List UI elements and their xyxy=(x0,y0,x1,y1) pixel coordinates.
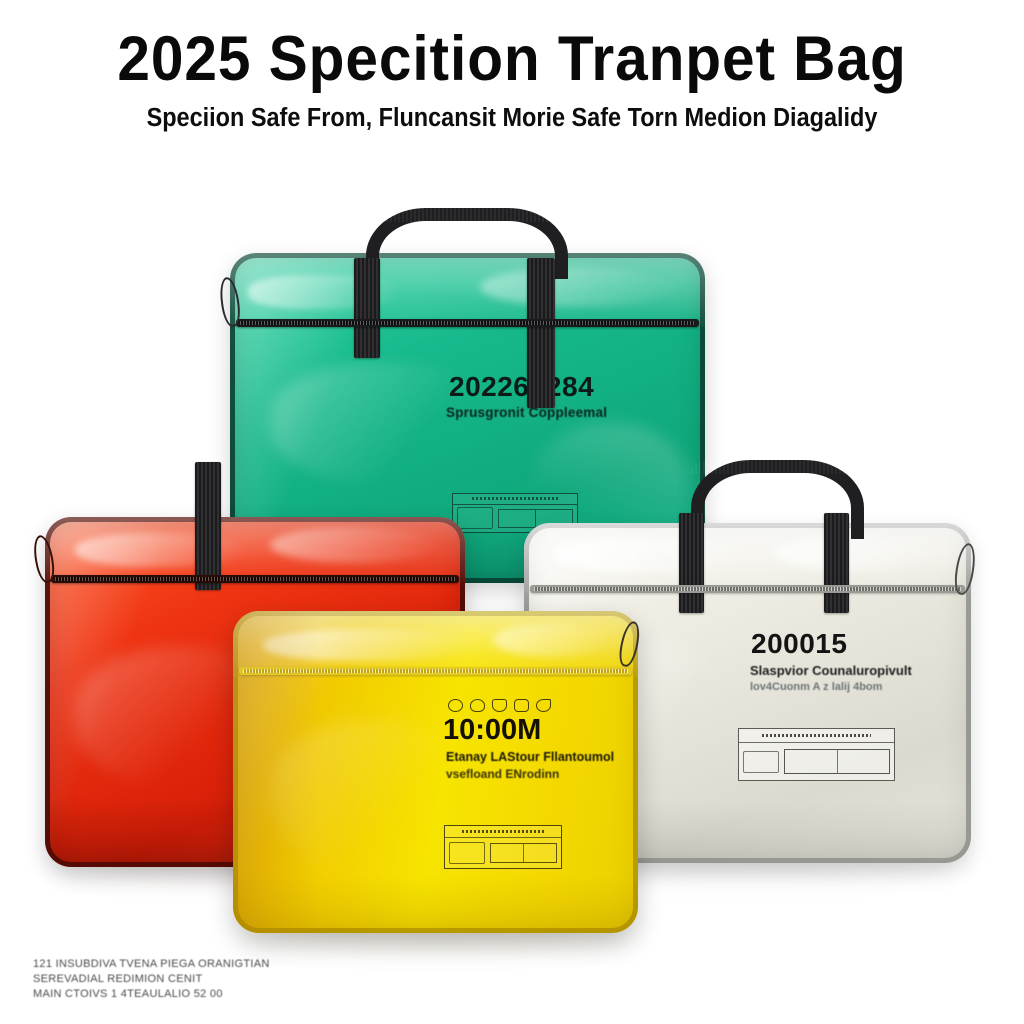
red-bag-strap xyxy=(195,462,221,590)
truck-icon xyxy=(449,842,485,864)
green-bag-strap-right xyxy=(527,258,555,408)
yellow-transparent-bag: 10:00M Etanay LAStour Fllantoumol vseflo… xyxy=(233,611,638,933)
footer-line-2: SEREVADIAL REDIMION CENIT xyxy=(33,972,270,987)
care-icon-dry xyxy=(536,699,551,712)
product-poster: 2025 Specition Tranpet Bag Speciion Safe… xyxy=(0,0,1024,1024)
white-bag-label-box xyxy=(738,728,895,781)
care-symbols-row xyxy=(448,699,551,712)
care-icon-bleach xyxy=(514,699,529,712)
white-bag-strap-right xyxy=(824,513,849,613)
yellow-bag-subtext-1: Etanay LAStour Fllantoumol xyxy=(446,750,614,764)
green-bag-code: 20226 /284 xyxy=(449,371,594,403)
footer-line-3: MAIN CTOIVS 1 4TEAULALIO 52 00 xyxy=(33,987,270,1002)
green-bag-zipper[interactable] xyxy=(236,319,699,327)
page-title: 2025 Specition Tranpet Bag xyxy=(36,28,988,91)
footer-line-1: 121 INSUBDIVA TVENA PIEGA ORANIGTIAN xyxy=(33,957,270,972)
yellow-bag-code: 10:00M xyxy=(443,714,541,747)
red-bag-zipper[interactable] xyxy=(51,575,459,583)
white-bag-code: 200015 xyxy=(751,628,847,660)
footer-address-block: 121 INSUBDIVA TVENA PIEGA ORANIGTIAN SER… xyxy=(33,957,270,1002)
white-bag-subtext-2: lov4Cuonm A z lalij 4bom xyxy=(750,681,882,693)
white-bag-strap-left xyxy=(679,513,704,613)
white-bag-subtext-1: Slaspvior Counaluropivult xyxy=(750,663,912,678)
white-bag-zipper[interactable] xyxy=(530,585,965,593)
page-subtitle: Speciion Safe From, Fluncansit Morie Saf… xyxy=(41,106,983,132)
yellow-bag-zipper[interactable] xyxy=(239,667,632,675)
care-icon-circle xyxy=(448,699,463,712)
yellow-bag-label-box xyxy=(444,825,562,869)
truck-icon xyxy=(743,751,779,773)
green-bag-strap-left xyxy=(354,258,380,358)
care-icon-iron xyxy=(470,699,485,712)
care-icon-wash xyxy=(492,699,507,712)
yellow-bag-subtext-2: vsefloand ENrodinn xyxy=(446,767,559,781)
yellow-bag-body xyxy=(233,611,638,933)
